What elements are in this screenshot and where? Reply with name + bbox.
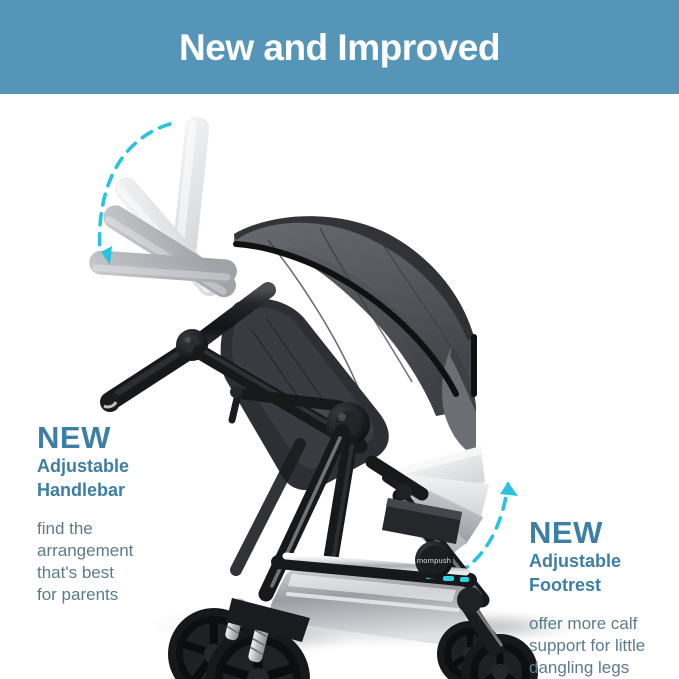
- header-banner: New and Improved: [0, 0, 679, 94]
- brand-logo-text: mompush: [417, 556, 451, 565]
- handlebar-description: find the arrangement that's best for par…: [37, 518, 197, 606]
- footrest-new-label: NEW: [529, 517, 679, 549]
- handlebar-feature-line1: Adjustable: [37, 456, 197, 478]
- handlebar-feature-line2: Handlebar: [37, 480, 197, 502]
- annotation-footrest: NEW Adjustable Footrest offer more calf …: [529, 517, 679, 679]
- footrest-desc-line2: support for little: [529, 635, 679, 657]
- footrest-feature-line1: Adjustable: [529, 551, 679, 573]
- handlebar-desc-line1: find the: [37, 518, 197, 540]
- footrest-desc-line1: offer more calf: [529, 613, 679, 635]
- product-stage: mompush: [0, 94, 679, 679]
- handlebar-new-label: NEW: [37, 422, 197, 454]
- footrest-feature-line2: Footrest: [529, 575, 679, 597]
- handlebar-desc-line2: arrangement: [37, 540, 197, 562]
- handlebar-desc-line3: that's best: [37, 562, 197, 584]
- footrest-description: offer more calf support for little dangl…: [529, 613, 679, 679]
- product-feature-image: New and Improved: [0, 0, 679, 679]
- handlebar-desc-line4: for parents: [37, 584, 197, 606]
- footrest-desc-line3: dangling legs: [529, 657, 679, 679]
- handlebar-ghost-positions: [88, 115, 240, 301]
- annotation-handlebar: NEW Adjustable Handlebar find the arrang…: [37, 422, 197, 606]
- handlebar: [100, 350, 186, 412]
- brand-logo-hub: mompush: [415, 541, 453, 579]
- banner-title: New and Improved: [179, 29, 500, 66]
